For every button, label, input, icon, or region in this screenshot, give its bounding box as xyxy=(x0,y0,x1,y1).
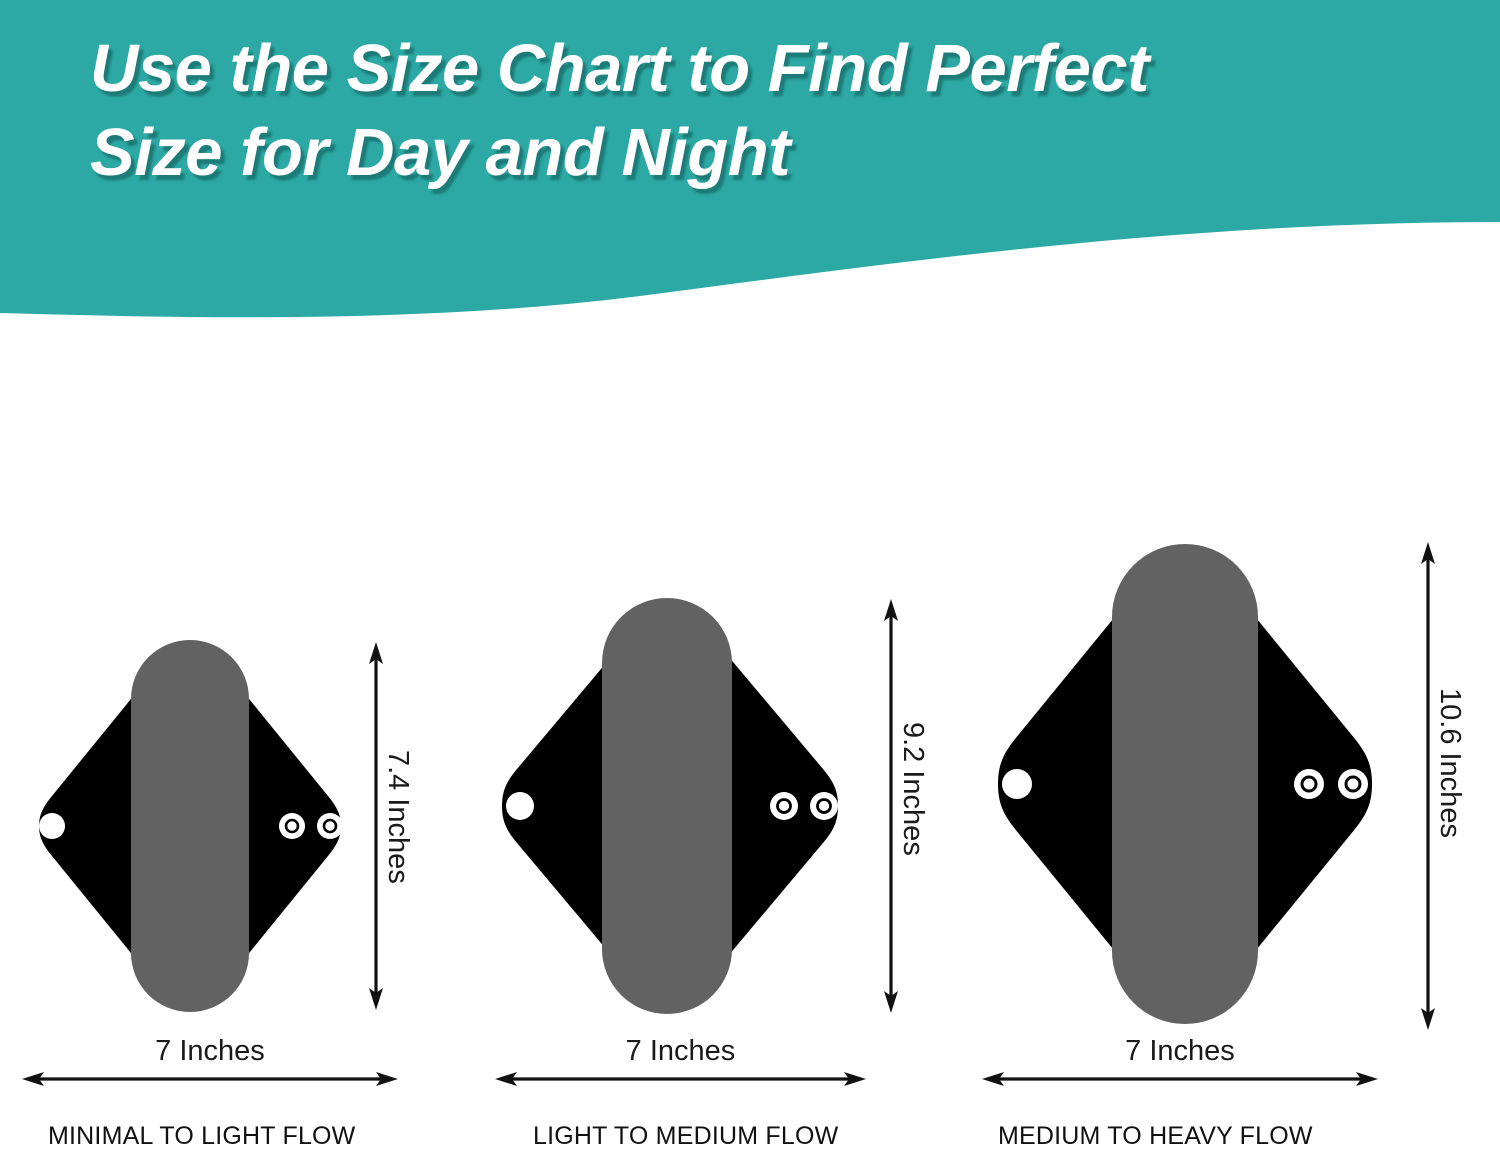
pad-insert-shape xyxy=(131,640,249,1012)
pad-illustration xyxy=(985,540,1385,1028)
width-label-small: 7 Inches xyxy=(20,1035,400,1067)
pad-column-medium: 9.2 Inches 7 Inches LIGHT TO MEDIUM FLOW xyxy=(470,0,940,1158)
length-measure-large: 10.6 Inches xyxy=(1410,540,1446,1037)
pad-illustration xyxy=(490,594,850,1018)
width-measure-medium: 7 Inches xyxy=(493,1035,868,1096)
length-measure-small: 7.4 Inches xyxy=(358,640,394,1017)
snap-left-icon xyxy=(39,813,65,839)
snap-right-inner-icon xyxy=(770,792,798,820)
snap-right-inner-icon xyxy=(1294,769,1324,799)
width-measure-small: 7 Inches xyxy=(20,1035,400,1096)
width-arrow-icon xyxy=(980,1067,1380,1091)
length-label-medium: 9.2 Inches xyxy=(896,722,929,856)
width-measure-large: 7 Inches xyxy=(980,1035,1380,1096)
snap-left-icon xyxy=(506,792,534,820)
size-chart-page: Use the Size Chart to Find Perfect Size … xyxy=(0,0,1500,1158)
width-label-medium: 7 Inches xyxy=(493,1035,868,1067)
length-measure-medium: 9.2 Inches xyxy=(873,597,909,1020)
width-arrow-icon xyxy=(20,1067,400,1091)
snap-right-outer-icon xyxy=(1338,769,1368,799)
pad-column-large: 10.6 Inches 7 Inches MEDIUM TO HEAVY FLO… xyxy=(940,0,1500,1158)
width-arrow-icon xyxy=(493,1067,868,1091)
flow-caption-large: MEDIUM TO HEAVY FLOW xyxy=(998,1122,1313,1151)
pad-insert-shape xyxy=(1112,544,1258,1024)
pad-illustration xyxy=(25,636,355,1016)
snap-right-outer-icon xyxy=(810,792,838,820)
snap-right-outer-icon xyxy=(317,813,343,839)
flow-caption-small: MINIMAL TO LIGHT FLOW xyxy=(48,1122,355,1151)
pad-column-small: 7.4 Inches 7 Inches MINIMAL TO LIGHT FLO… xyxy=(0,0,470,1158)
length-label-small: 7.4 Inches xyxy=(381,750,414,884)
snap-left-icon xyxy=(1002,769,1032,799)
snap-right-inner-icon xyxy=(279,813,305,839)
pad-diagram-small xyxy=(25,636,355,1016)
pad-diagram-medium xyxy=(490,594,850,1018)
width-label-large: 7 Inches xyxy=(980,1035,1380,1067)
pad-diagram-large xyxy=(985,540,1385,1028)
length-label-large: 10.6 Inches xyxy=(1433,688,1466,838)
flow-caption-medium: LIGHT TO MEDIUM FLOW xyxy=(533,1122,838,1151)
pad-insert-shape xyxy=(602,598,732,1014)
